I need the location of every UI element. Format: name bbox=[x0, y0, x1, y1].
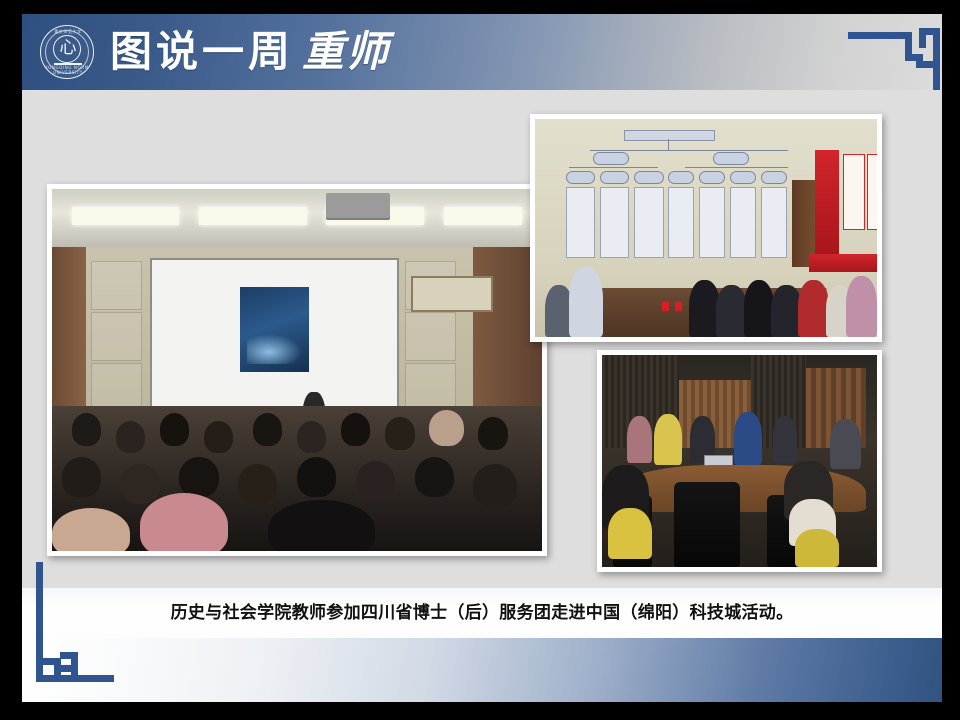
hall-ceiling-light bbox=[199, 207, 307, 225]
audience-head bbox=[179, 457, 218, 497]
wall-chart-node bbox=[761, 171, 787, 184]
bracket-segment bbox=[36, 675, 114, 682]
bracket-segment bbox=[905, 32, 912, 54]
hall-panel bbox=[91, 312, 142, 361]
bracket-segment bbox=[60, 652, 78, 659]
audience-head bbox=[478, 417, 507, 450]
hall-panel bbox=[405, 312, 456, 361]
photo-conference-room-canvas bbox=[602, 355, 877, 567]
wall-chart-column bbox=[566, 187, 595, 259]
red-display-board bbox=[815, 150, 839, 255]
wall-chart-column bbox=[668, 187, 694, 259]
screenshot-root: 重庆师范大学 心 CHONGQING NORMAL UNIVERSITY 图说一… bbox=[0, 0, 960, 720]
page-title-script: 重师 bbox=[302, 27, 390, 76]
bracket-segment bbox=[848, 32, 912, 39]
audience-person-dark bbox=[268, 500, 376, 551]
audience-head bbox=[204, 421, 233, 454]
caption-strip: 历史与社会学院教师参加四川省博士（后）服务团走进中国（绵阳）科技城活动。 bbox=[22, 588, 942, 638]
audience-head bbox=[297, 421, 326, 454]
audience-head bbox=[297, 457, 336, 497]
attendee-foreground bbox=[795, 529, 839, 567]
audience-head bbox=[356, 461, 395, 501]
header-content: 重庆师范大学 心 CHONGQING NORMAL UNIVERSITY 图说一… bbox=[22, 14, 942, 90]
corner-decoration-bottom-left bbox=[36, 562, 128, 682]
slide-footer-band bbox=[22, 638, 942, 702]
attendee-speaker bbox=[569, 267, 603, 337]
hall-ceiling-light bbox=[72, 207, 180, 225]
audience-head bbox=[121, 464, 160, 504]
attendee bbox=[689, 280, 720, 337]
attendee bbox=[716, 285, 747, 337]
white-notice-board bbox=[867, 154, 877, 230]
slide-caption: 历史与社会学院教师参加四川省博士（后）服务团走进中国（绵阳）科技城活动。 bbox=[22, 598, 942, 623]
hall-panel bbox=[91, 261, 142, 310]
bracket-segment bbox=[916, 61, 936, 68]
photo-lecture-hall bbox=[47, 184, 547, 556]
photo-meeting-room bbox=[530, 114, 882, 342]
wall-chart-connector bbox=[569, 167, 658, 168]
bracket-segment bbox=[905, 54, 923, 61]
audience-head bbox=[341, 413, 370, 446]
emblem-center-glyph: 心 bbox=[41, 35, 94, 61]
wall-chart-column bbox=[730, 187, 756, 259]
photo-meeting-room-canvas bbox=[535, 119, 877, 337]
wall-chart-node bbox=[600, 171, 629, 184]
photo-lecture-hall-canvas bbox=[52, 189, 542, 551]
attendee-presenter bbox=[734, 412, 762, 465]
wall-chart-node bbox=[593, 152, 629, 165]
wall-chart-column bbox=[699, 187, 725, 259]
hall-ceiling-light bbox=[444, 207, 522, 225]
audience-head bbox=[72, 413, 101, 446]
hall-projected-slide bbox=[240, 287, 309, 372]
red-skyline-graphic bbox=[809, 254, 877, 271]
wall-chart-connector bbox=[590, 150, 788, 151]
hall-panel bbox=[91, 363, 142, 412]
hall-projection-screen bbox=[150, 258, 399, 414]
wall-chart-column bbox=[761, 187, 787, 259]
presentation-slide: 重庆师范大学 心 CHONGQING NORMAL UNIVERSITY 图说一… bbox=[22, 14, 942, 702]
wall-chart-node bbox=[566, 171, 595, 184]
attendee-foreground bbox=[608, 508, 652, 559]
attendee bbox=[654, 414, 682, 465]
attendee bbox=[830, 419, 860, 470]
photo-conference-room bbox=[597, 350, 882, 572]
audience-head bbox=[160, 413, 189, 446]
hall-projector-icon bbox=[326, 193, 390, 218]
bracket-segment bbox=[919, 28, 926, 48]
wall-chart-column bbox=[634, 187, 663, 259]
wall-chart-node bbox=[699, 171, 725, 184]
wall-chart-node bbox=[668, 171, 694, 184]
wall-chart-node bbox=[713, 152, 749, 165]
hall-panel bbox=[405, 363, 456, 412]
desk-flag-icon bbox=[662, 302, 669, 311]
wall-chart-connector bbox=[685, 167, 788, 168]
audience-person-pink bbox=[140, 493, 228, 551]
university-emblem-icon: 重庆师范大学 心 CHONGQING NORMAL UNIVERSITY bbox=[40, 25, 94, 79]
audience-head bbox=[253, 413, 282, 446]
wall-chart-node bbox=[634, 171, 663, 184]
attendee bbox=[744, 280, 775, 337]
page-title-main: 图说一周 bbox=[110, 27, 294, 76]
page-title: 图说一周重师 bbox=[110, 28, 390, 76]
hall-wall-plaque bbox=[411, 276, 493, 313]
wall-chart-node bbox=[730, 171, 756, 184]
attendee-pink bbox=[846, 276, 877, 337]
audience-head bbox=[385, 417, 414, 450]
audience-head bbox=[415, 457, 454, 497]
slide-header-band: 重庆师范大学 心 CHONGQING NORMAL UNIVERSITY 图说一… bbox=[22, 14, 942, 90]
attendee bbox=[771, 285, 802, 337]
audience-head bbox=[116, 421, 145, 454]
white-notice-board bbox=[843, 154, 866, 230]
audience-head bbox=[473, 464, 517, 507]
conference-chair bbox=[674, 482, 740, 567]
attendee bbox=[627, 416, 652, 463]
audience-head bbox=[429, 410, 463, 446]
attendee bbox=[773, 416, 798, 463]
wall-chart-connector bbox=[668, 139, 669, 150]
attendee-red bbox=[798, 280, 829, 337]
desk-flag-icon bbox=[675, 302, 682, 311]
audience-head bbox=[238, 464, 277, 504]
emblem-arc-bottom-text: CHONGQING NORMAL UNIVERSITY bbox=[41, 65, 94, 75]
audience-head bbox=[62, 457, 101, 497]
wall-chart-column bbox=[600, 187, 629, 259]
